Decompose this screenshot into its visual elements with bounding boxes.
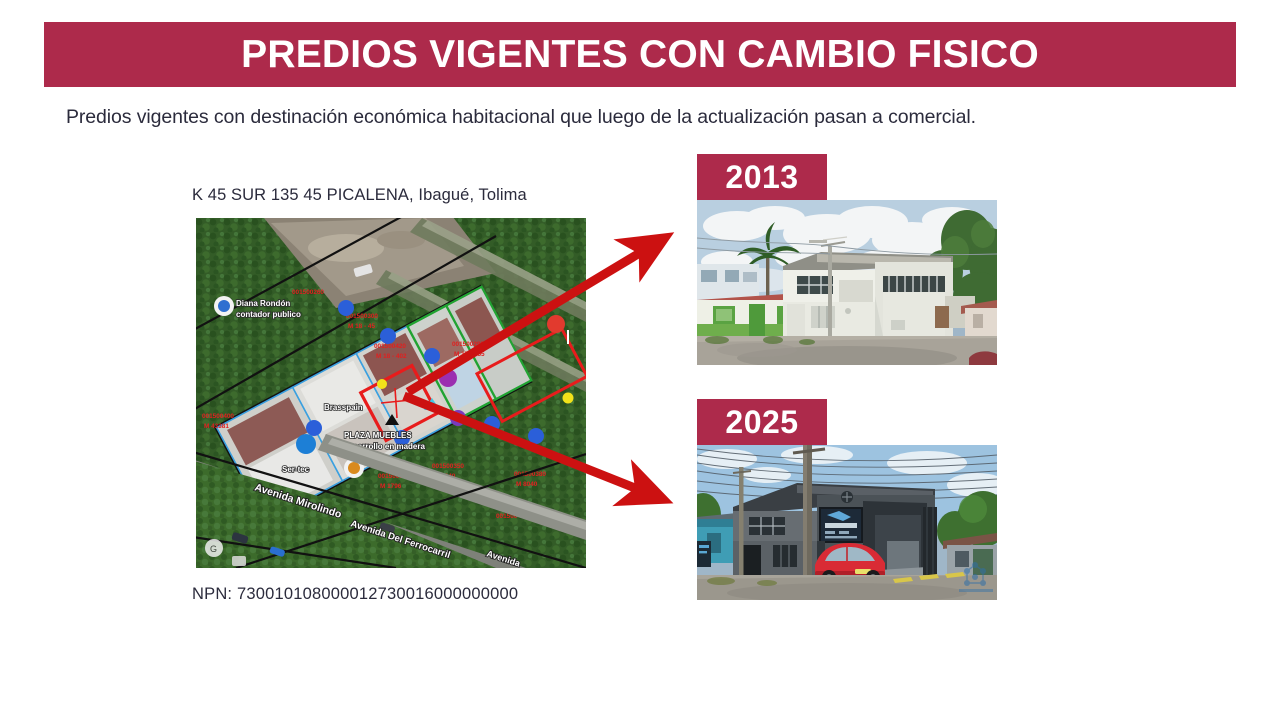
photo-2025-graphic [697, 445, 997, 600]
svg-text:M 8040: M 8040 [516, 481, 538, 488]
svg-text:001500400: 001500400 [202, 413, 234, 420]
svg-text:contador publico: contador publico [236, 310, 301, 319]
header-banner: PREDIOS VIGENTES CON CAMBIO FISICO [44, 22, 1236, 87]
parcel-address-label: K 45 SUR 135 45 PICALENA, Ibagué, Tolima [192, 186, 527, 205]
year-badge-2025-label: 2025 [725, 404, 798, 441]
svg-text:M 1796: M 1796 [380, 483, 402, 490]
svg-text:M 43381: M 43381 [204, 423, 229, 430]
year-badge-2025: 2025 [697, 399, 827, 445]
year-badge-2013-label: 2013 [725, 159, 798, 196]
svg-text:M 17 - 255: M 17 - 255 [454, 351, 485, 358]
svg-text:Brasspain: Brasspain [324, 403, 363, 412]
svg-text:001500260: 001500260 [292, 289, 324, 296]
subtitle-text: Predios vigentes con destinación económi… [66, 106, 1226, 129]
photo-2025 [697, 445, 997, 600]
parcel-npn-label: NPN: 730010108000012730016000000000 [192, 585, 518, 604]
svg-text:M 18 - 45: M 18 - 45 [348, 323, 375, 330]
svg-text:001500350: 001500350 [432, 463, 464, 470]
svg-text:001500290: 001500290 [452, 341, 484, 348]
map-graphic: 001500260 001500300 M 18 - 45 001500420 … [196, 218, 586, 568]
svg-text:G: G [210, 544, 217, 554]
svg-text:Diana Rondón: Diana Rondón [236, 299, 290, 308]
photo-2013-graphic [697, 200, 997, 365]
photo-2013 [697, 200, 997, 365]
year-badge-2013: 2013 [697, 154, 827, 200]
svg-text:PLAZA MUEBLES: PLAZA MUEBLES [344, 431, 412, 440]
svg-text:Ser-tec: Ser-tec [282, 465, 310, 474]
svg-text:001500420: 001500420 [374, 343, 406, 350]
slide-root: PREDIOS VIGENTES CON CAMBIO FISICO Predi… [0, 0, 1280, 720]
aerial-map-image: 001500260 001500300 M 18 - 45 001500420 … [196, 218, 586, 568]
page-title: PREDIOS VIGENTES CON CAMBIO FISICO [241, 33, 1039, 77]
svg-text:M 18 - 402: M 18 - 402 [376, 353, 407, 360]
